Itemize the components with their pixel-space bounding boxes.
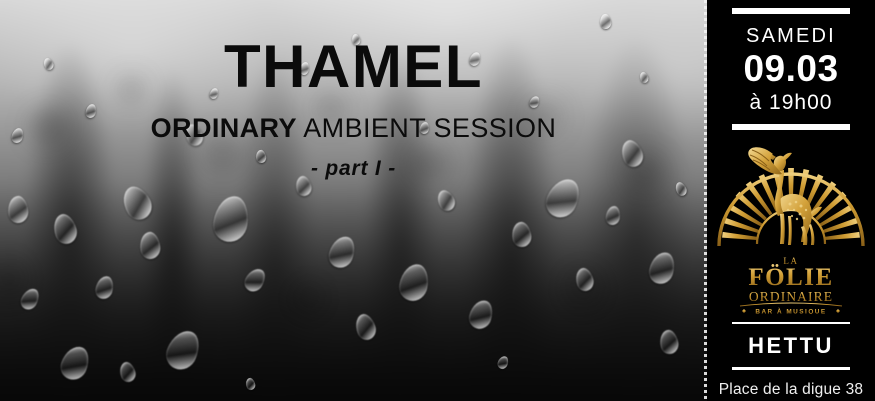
venue-name: HETTU [707,333,875,359]
session-subtitle-strong: ORDINARY [151,113,297,143]
ticket-stub-panel: SAMEDI 09.03 à 19h00 [707,0,875,401]
rain-on-glass-photo: THAMEL ORDINARY AMBIENT SESSION - part I… [0,0,707,401]
weekday-label: SAMEDI [707,25,875,48]
venue-block: HETTU Place de la digue 38 6000 CHARLERO… [707,322,875,401]
address-line-1: Place de la digue 38 [707,380,875,400]
artist-name: THAMEL [0,36,707,97]
date-top-rule [732,8,850,14]
session-subtitle: ORDINARY AMBIENT SESSION [0,113,707,144]
logo-diamond-right [836,309,840,313]
session-subtitle-light: AMBIENT SESSION [297,113,556,143]
event-poster: THAMEL ORDINARY AMBIENT SESSION - part I… [0,0,875,401]
date-block: SAMEDI 09.03 à 19h00 [707,0,875,130]
part-label: - part I - [0,157,707,181]
venue-top-rule [732,322,850,325]
event-headline-group: THAMEL ORDINARY AMBIENT SESSION - part I… [0,36,707,181]
winged-deer-sunburst-icon: LA FÖLIE ORDINAIRE BAR À MUSIQUE [716,146,866,314]
logo-tagline: BAR À MUSIQUE [755,306,826,314]
date-bottom-rule [732,124,850,130]
venue-address: Place de la digue 38 6000 CHARLEROI [707,380,875,401]
venue-bottom-rule [732,367,850,370]
logo-word-folie: FÖLIE [748,264,833,291]
start-time: à 19h00 [707,91,875,115]
logo-word-ordinaire: ORDINAIRE [749,289,833,304]
venue-logo: LA FÖLIE ORDINAIRE BAR À MUSIQUE [707,146,875,316]
date-number: 09.03 [707,49,875,89]
logo-diamond-left [742,309,746,313]
